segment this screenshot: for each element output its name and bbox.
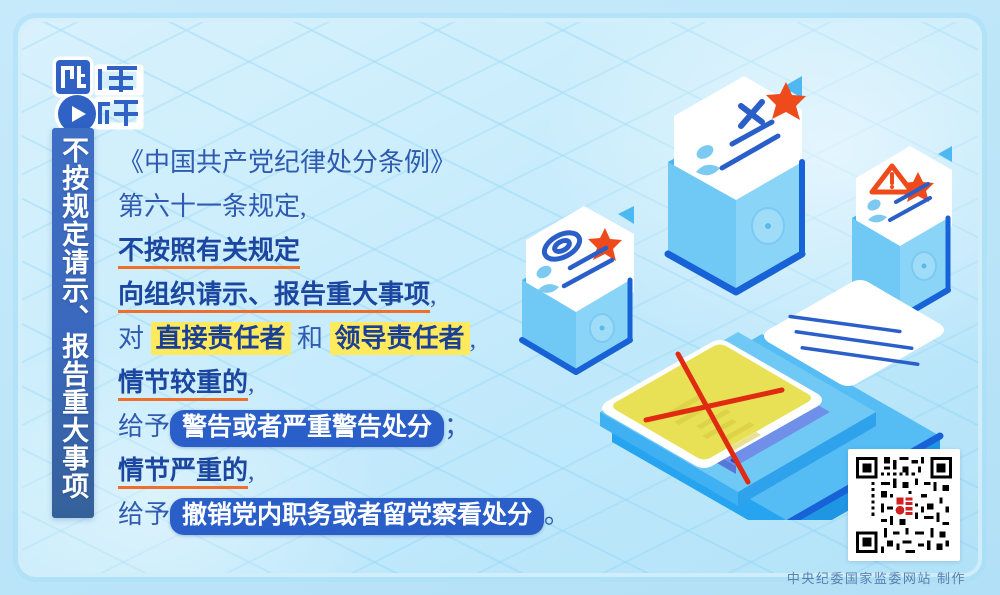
line-5-pre: 对 <box>118 324 144 353</box>
folder-1-group <box>522 206 634 372</box>
line-8-trail: , <box>248 456 255 485</box>
penalty-pill-removal: 撤销党内职务或者留党察看处分 <box>170 498 544 535</box>
brand-logo <box>52 56 148 138</box>
line-8-text: 情节严重的 <box>118 456 248 489</box>
isometric-illustration <box>500 40 980 520</box>
highlight-leadership-responsible: 领导责任者 <box>330 322 470 355</box>
vertical-title-text: 不按规定请示、报告重大事项 <box>58 128 88 500</box>
line-5-mid: 和 <box>297 324 323 353</box>
line-5-trail: , <box>470 324 477 353</box>
line-6-trail: , <box>248 368 255 397</box>
line-7-trail: ； <box>444 412 470 441</box>
vertical-title-banner: 不按规定请示、报告重大事项 <box>52 128 94 518</box>
line-9-pre: 给予 <box>118 500 170 529</box>
qr-code-icon <box>853 454 955 556</box>
illustration-svg <box>500 40 980 520</box>
line-6-text: 情节较重的 <box>118 368 248 401</box>
line-4-trail: , <box>430 280 437 309</box>
highlight-direct-responsible: 直接责任者 <box>151 322 291 355</box>
line-7-pre: 给予 <box>118 412 170 441</box>
penalty-pill-warning: 警告或者严重警告处分 <box>170 410 444 447</box>
line-3-text: 不按照有关规定 <box>118 236 300 269</box>
folder-2-group <box>668 76 806 292</box>
infographic-root: 不按规定请示、报告重大事项 《中国共产党纪律处分条例》 第六十一条规定, 不按照… <box>0 0 1000 595</box>
qr-code[interactable] <box>848 449 960 561</box>
credit-text: 中央纪委国家监委网站 制作 <box>787 568 966 587</box>
brand-logo-icon <box>52 56 148 138</box>
line-4-text: 向组织请示、报告重大事项 <box>118 280 430 313</box>
line-2-text: 第六十一条规定, <box>118 192 307 221</box>
line-1-text: 《中国共产党纪律处分条例》 <box>118 148 456 177</box>
